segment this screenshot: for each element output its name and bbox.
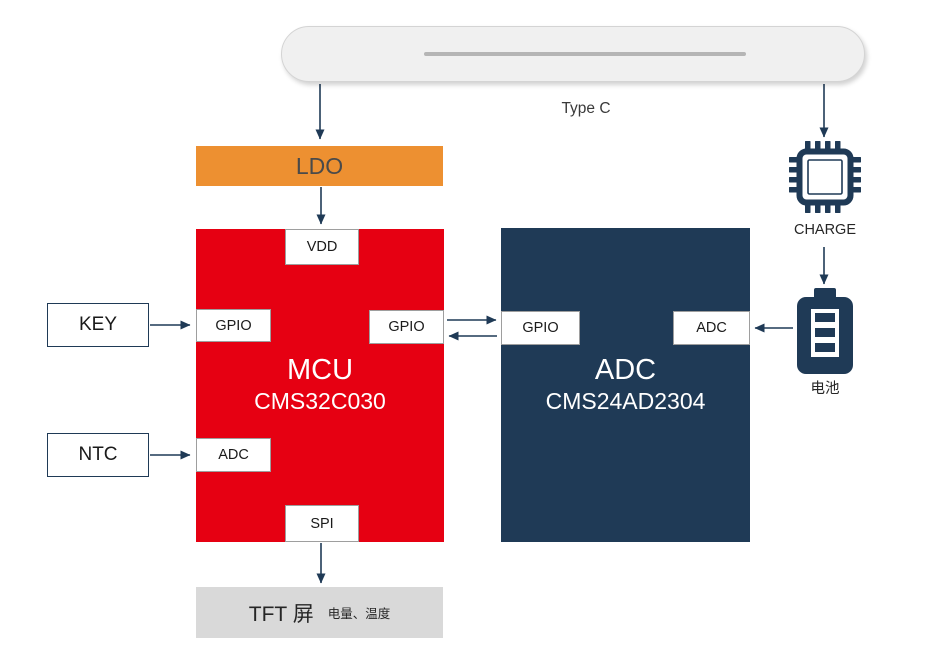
block-adc-title: ADC: [501, 354, 750, 387]
block-mcu-part: CMS32C030: [196, 388, 444, 415]
block-mcu: MCU CMS32C030: [196, 229, 444, 542]
block-adc: ADC CMS24AD2304: [501, 228, 750, 542]
block-tft-label: TFT 屏: [249, 598, 314, 628]
block-adc-part: CMS24AD2304: [501, 388, 750, 415]
block-ldo-label: LDO: [296, 153, 343, 180]
charge-label: CHARGE: [765, 222, 885, 242]
port-mcu-gpio-right: GPIO: [369, 310, 444, 344]
port-mcu-vdd: VDD: [285, 229, 359, 265]
port-mcu-spi: SPI: [285, 505, 359, 542]
block-ntc: NTC: [47, 433, 149, 477]
block-tft-display: TFT 屏 电量、温度: [196, 587, 443, 638]
typec-label: Type C: [506, 98, 666, 120]
port-adc-adc: ADC: [673, 311, 750, 345]
block-mcu-title: MCU: [196, 354, 444, 387]
block-key: KEY: [47, 303, 149, 347]
port-mcu-gpio-left: GPIO: [196, 309, 271, 342]
block-tft-sublabel: 电量、温度: [328, 603, 391, 622]
typec-slot: [424, 52, 746, 56]
port-mcu-adc: ADC: [196, 438, 271, 472]
port-adc-gpio: GPIO: [501, 311, 580, 345]
chip-icon: [789, 141, 861, 213]
battery-icon: [797, 288, 853, 374]
battery-label: 电池: [765, 377, 885, 399]
block-ldo: LDO: [196, 146, 443, 186]
